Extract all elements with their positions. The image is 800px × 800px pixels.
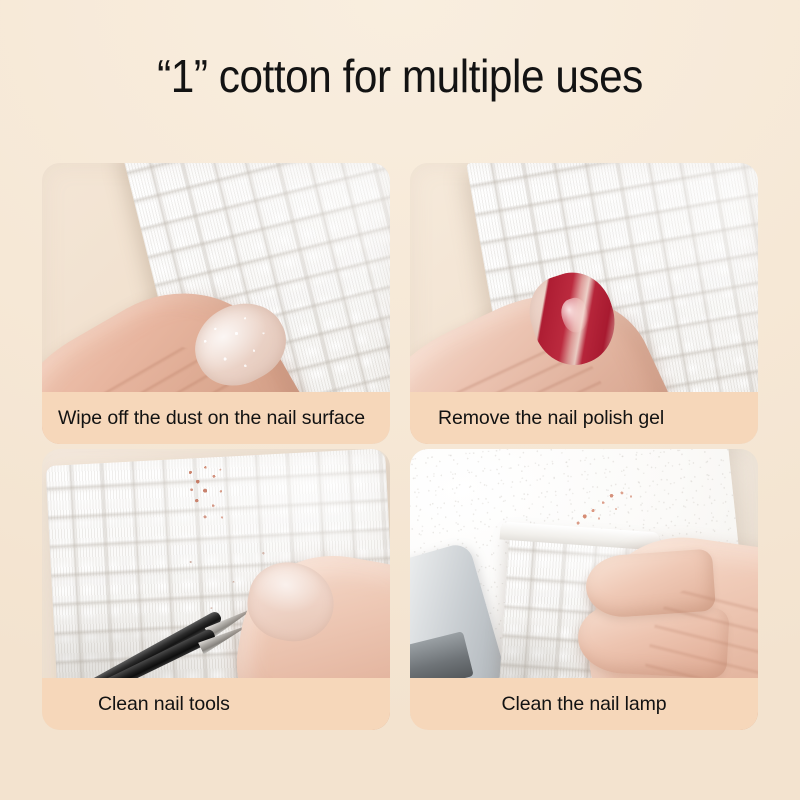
card-caption-text: Wipe off the dust on the nail surface [42, 407, 390, 430]
usage-card-wipe-dust[interactable]: Wipe off the dust on the nail surface [42, 163, 390, 444]
card-caption-band: Remove the nail polish gel [410, 392, 758, 444]
pink-dust-on-lamp [556, 482, 647, 540]
dust-residue-stain [177, 457, 246, 537]
card-caption-text: Clean nail tools [42, 693, 390, 716]
usage-card-clean-lamp[interactable]: Clean the nail lamp [410, 449, 758, 730]
card-caption-band: Clean the nail lamp [410, 678, 758, 730]
card-caption-text: Remove the nail polish gel [410, 407, 758, 430]
card-caption-text: Clean the nail lamp [410, 693, 758, 716]
poster-canvas: “1” cotton for multiple uses Wipe off th… [0, 0, 800, 800]
usage-card-remove-polish[interactable]: Remove the nail polish gel [410, 163, 758, 444]
card-caption-band: Clean nail tools [42, 678, 390, 730]
page-title: “1” cotton for multiple uses [32, 52, 768, 100]
usage-card-clean-tools[interactable]: Clean nail tools [42, 449, 390, 730]
card-caption-band: Wipe off the dust on the nail surface [42, 392, 390, 444]
